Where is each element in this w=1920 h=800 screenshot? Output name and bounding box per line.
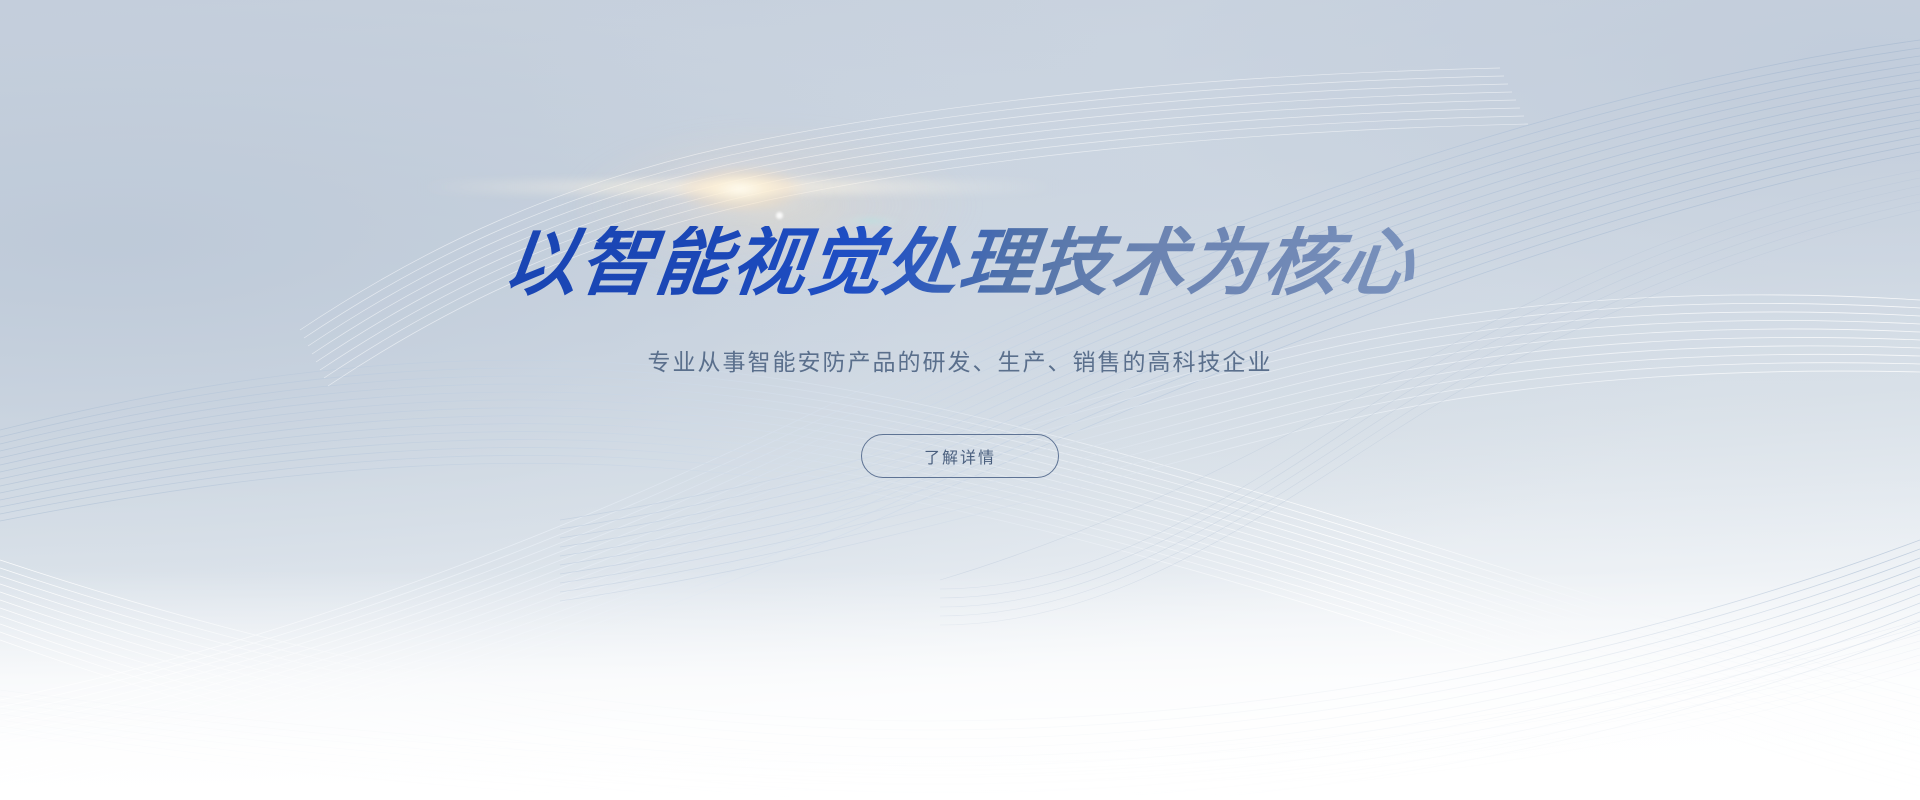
hero-banner: 以智能视觉处理技术为核心 专业从事智能安防产品的研发、生产、销售的高科技企业 了… — [0, 0, 1920, 800]
background-bottom-fade — [0, 570, 1920, 800]
page-title: 以智能视觉处理技术为核心 — [499, 226, 1420, 300]
learn-more-button[interactable]: 了解详情 — [861, 434, 1059, 478]
page-subtitle: 专业从事智能安防产品的研发、生产、销售的高科技企业 — [648, 346, 1273, 378]
